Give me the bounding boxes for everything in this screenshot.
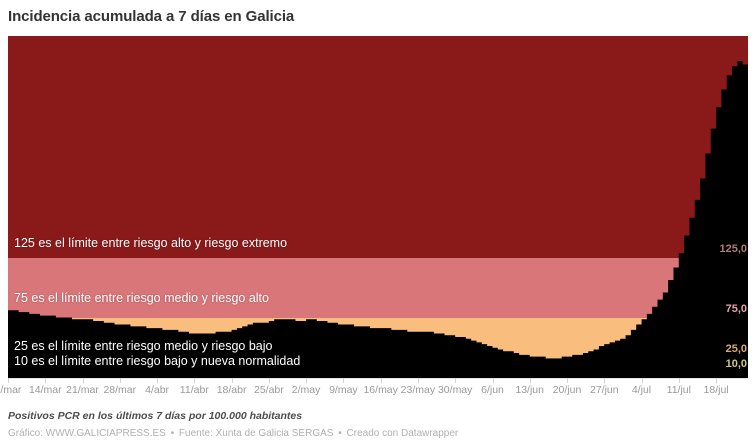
- source-name: WWW.GALICIAPRESS.ES: [46, 428, 166, 439]
- x-axis-tick-mark: [381, 378, 382, 383]
- x-axis-tick-mark: [120, 378, 121, 383]
- x-axis-tick-mark: [418, 378, 419, 383]
- x-axis-tick-label: 4/abr: [145, 384, 169, 396]
- x-axis-tick-label: 23/may: [401, 384, 435, 396]
- x-axis-tick-mark: [306, 378, 307, 383]
- annotation-threshold-75: 75 es el límite entre riesgo medio y rie…: [14, 291, 269, 306]
- incidence-area-series: [8, 36, 748, 378]
- bullet-separator-2: •: [336, 428, 344, 439]
- source-prefix: Gráfico:: [8, 428, 43, 439]
- x-axis-tick-label: 11/jul: [667, 384, 691, 396]
- annotation-threshold-125: 125 es el límite entre riesgo alto y rie…: [14, 236, 287, 251]
- x-axis-tick-label: 30/may: [438, 384, 472, 396]
- x-axis-tick-mark: [83, 378, 84, 383]
- axis-value-label-10: 10,0: [726, 358, 747, 370]
- x-axis-tick-label: 11/abr: [180, 384, 209, 396]
- x-axis-tick-mark: [232, 378, 233, 383]
- x-axis-tick-label: 7/mar: [0, 384, 21, 396]
- x-axis-tick-mark: [194, 378, 195, 383]
- x-axis-tick-label: 6/jun: [481, 384, 504, 396]
- axis-value-label-125: 125,0: [719, 243, 747, 255]
- chart-subtitle: Positivos PCR en los últimos 7 días por …: [8, 410, 302, 422]
- data-source-name: Xunta de Galicia SERGAS: [216, 428, 334, 439]
- x-axis-tick-label: 13/jun: [515, 384, 544, 396]
- x-axis-tick-label: 16/may: [363, 384, 397, 396]
- x-axis-tick-label: 28/mar: [103, 384, 136, 396]
- annotation-threshold-25: 25 es el límite entre riesgo medio y rie…: [14, 339, 272, 354]
- page-title: Incidencia acumulada a 7 días en Galicia: [8, 8, 748, 26]
- x-axis-tick-label: 9/may: [329, 384, 358, 396]
- x-axis-tick-mark: [530, 378, 531, 383]
- x-axis-tick-label: 18/abr: [217, 384, 247, 396]
- x-axis-tick-label: 21/mar: [66, 384, 99, 396]
- x-axis-tick-mark: [716, 378, 717, 383]
- source-credit-line: Gráfico: WWW.GALICIAPRESS.ES • Fuente: X…: [8, 428, 458, 439]
- x-axis: 7/mar14/mar21/mar28/mar4/abr11/abr18/abr…: [8, 378, 748, 400]
- x-axis-tick-mark: [8, 378, 9, 383]
- x-axis-tick-label: 18/jul: [704, 384, 729, 396]
- x-axis-tick-label: 4/jul: [632, 384, 651, 396]
- data-prefix: Fuente:: [179, 428, 213, 439]
- axis-value-label-75: 75,0: [726, 303, 747, 315]
- x-axis-tick-mark: [269, 378, 270, 383]
- x-axis-tick-label: 2/may: [292, 384, 321, 396]
- x-axis-tick-mark: [157, 378, 158, 383]
- x-axis-tick-mark: [642, 378, 643, 383]
- x-axis-tick-label: 27/jun: [590, 384, 619, 396]
- bullet-separator-1: •: [169, 428, 177, 439]
- x-axis-tick-mark: [455, 378, 456, 383]
- annotation-threshold-10: 10 es el límite entre riesgo bajo y nuev…: [14, 354, 300, 369]
- x-axis-tick-mark: [604, 378, 605, 383]
- x-axis-tick-label: 20/jun: [553, 384, 582, 396]
- x-axis-tick-mark: [45, 378, 46, 383]
- x-axis-tick-mark: [493, 378, 494, 383]
- x-axis-tick-mark: [343, 378, 344, 383]
- chart-plot-area: 125 es el límite entre riesgo alto y rie…: [8, 36, 748, 378]
- tool-credit: Creado con Datawrapper: [347, 428, 459, 439]
- x-axis-tick-label: 14/mar: [29, 384, 62, 396]
- x-axis-tick-mark: [567, 378, 568, 383]
- x-axis-tick-label: 25/abr: [254, 384, 284, 396]
- x-axis-tick-mark: [679, 378, 680, 383]
- axis-value-label-25: 25,0: [726, 343, 747, 355]
